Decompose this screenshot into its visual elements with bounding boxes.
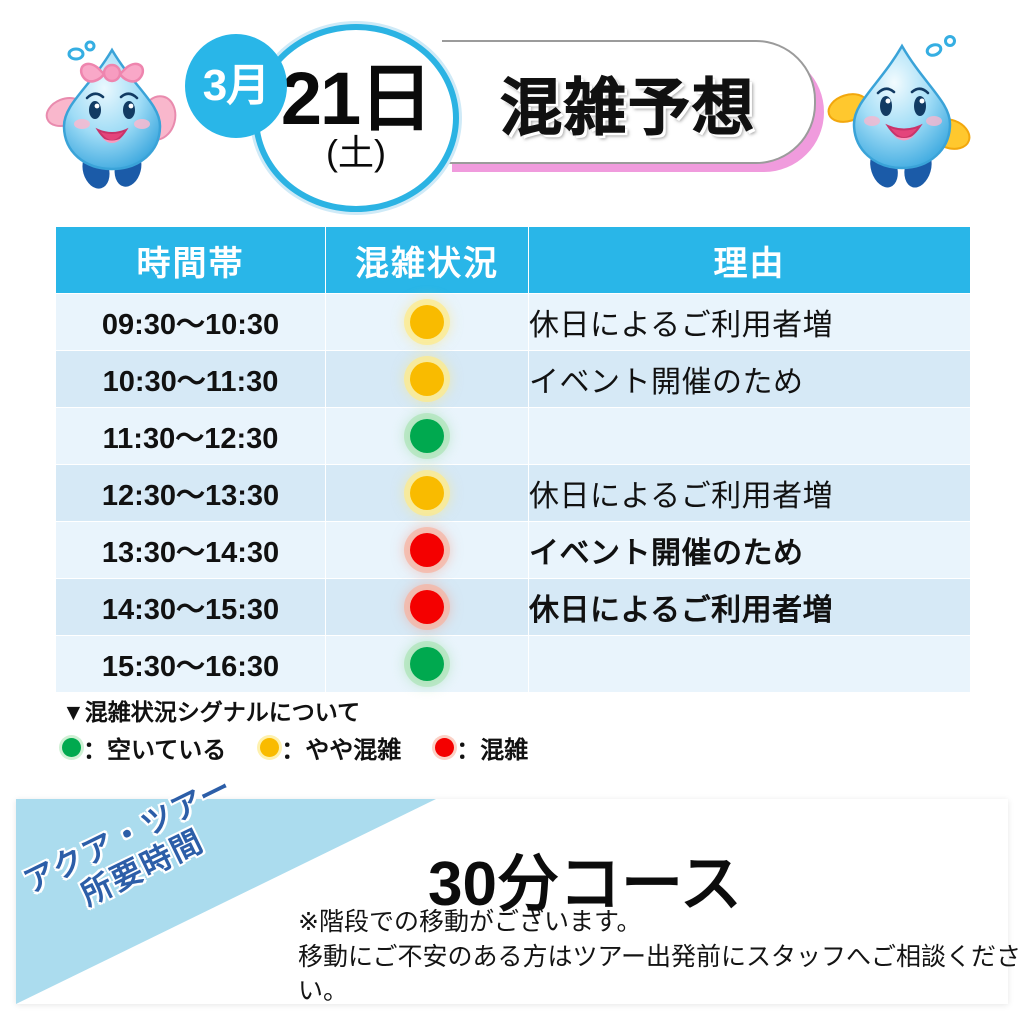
date-day: 21日 <box>281 65 431 133</box>
column-header-signal: 混雑状況 <box>326 227 529 294</box>
header: 混雑予想 21日 (土) 3月 <box>0 0 1024 212</box>
month-badge: 3月 <box>185 34 287 138</box>
cell-reason: イベント開催のため <box>529 522 971 579</box>
signal-yellow-icon <box>410 362 444 396</box>
legend-item: ：混雑 <box>435 730 528 765</box>
legend-signal-red-icon <box>435 738 454 757</box>
cell-reason <box>529 636 971 693</box>
signal-yellow-icon <box>410 476 444 510</box>
legend-item-label: ：やや混雑 <box>281 730 401 765</box>
cell-time: 14:30～15:30 <box>56 579 326 636</box>
signal-green-icon <box>410 647 444 681</box>
cell-time: 12:30～13:30 <box>56 465 326 522</box>
cell-time: 10:30～11:30 <box>56 351 326 408</box>
cell-time: 11:30～12:30 <box>56 408 326 465</box>
cell-signal <box>326 408 529 465</box>
legend-signal-green-icon <box>62 738 81 757</box>
cell-signal <box>326 636 529 693</box>
table-row: 11:30～12:30 <box>56 408 971 465</box>
table-row: 13:30～14:30イベント開催のため <box>56 522 971 579</box>
signal-green-icon <box>410 419 444 453</box>
date-circle: 21日 (土) <box>253 24 459 212</box>
cell-reason: イベント開催のため <box>529 351 971 408</box>
table-row: 12:30～13:30休日によるご利用者増 <box>56 465 971 522</box>
table-row: 09:30～10:30休日によるご利用者増 <box>56 294 971 351</box>
legend-title: ▼混雑状況シグナルについて <box>62 700 702 725</box>
legend-item: ：やや混雑 <box>260 730 401 765</box>
cell-reason: 休日によるご利用者増 <box>529 465 971 522</box>
cell-time: 15:30～16:30 <box>56 636 326 693</box>
table-row: 14:30～15:30休日によるご利用者増 <box>56 579 971 636</box>
signal-yellow-icon <box>410 305 444 339</box>
course-note-line2: 移動にご不安のある方はツアー出発前にスタッフへご相談ください。 <box>298 940 1024 1009</box>
cell-signal <box>326 294 529 351</box>
cell-reason: 休日によるご利用者増 <box>529 579 971 636</box>
congestion-table-wrapper: 時間帯 混雑状況 理由 09:30～10:30休日によるご利用者増10:30～1… <box>55 226 970 693</box>
cell-signal <box>326 579 529 636</box>
water-drop-girl-mascot <box>38 32 188 192</box>
signal-red-icon <box>410 533 444 567</box>
water-drop-boy-mascot <box>822 26 982 196</box>
cell-signal <box>326 465 529 522</box>
legend-item-label: ：空いている <box>83 730 226 765</box>
legend-signal-yellow-icon <box>260 738 279 757</box>
table-body: 09:30～10:30休日によるご利用者増10:30～11:30イベント開催のた… <box>56 294 971 693</box>
table-header-row: 時間帯 混雑状況 理由 <box>56 227 971 294</box>
legend-item: ：空いている <box>62 730 226 765</box>
signal-red-icon <box>410 590 444 624</box>
table-row: 10:30～11:30イベント開催のため <box>56 351 971 408</box>
cell-time: 13:30～14:30 <box>56 522 326 579</box>
table-header: 時間帯 混雑状況 理由 <box>56 227 971 294</box>
course-notes: ※階段での移動がございます。 移動にご不安のある方はツアー出発前にスタッフへご相… <box>298 905 1024 1009</box>
table-row: 15:30～16:30 <box>56 636 971 693</box>
legend: ▼混雑状況シグナルについて ：空いている：やや混雑：混雑 <box>62 700 702 765</box>
cell-signal <box>326 351 529 408</box>
legend-item-label: ：混雑 <box>456 730 528 765</box>
month-badge-label: 3月 <box>203 64 269 108</box>
cell-reason: 休日によるご利用者増 <box>529 294 971 351</box>
congestion-table: 時間帯 混雑状況 理由 09:30～10:30休日によるご利用者増10:30～1… <box>55 226 971 693</box>
cell-reason <box>529 408 971 465</box>
column-header-reason: 理由 <box>529 227 971 294</box>
cell-signal <box>326 522 529 579</box>
column-header-time: 時間帯 <box>56 227 326 294</box>
page-title: 混雑予想 <box>500 57 756 147</box>
title-banner: 混雑予想 <box>442 40 816 164</box>
course-note-line1: ※階段での移動がございます。 <box>298 905 1024 940</box>
cell-time: 09:30～10:30 <box>56 294 326 351</box>
date-weekday: (土) <box>326 135 386 171</box>
legend-items: ：空いている：やや混雑：混雑 <box>62 730 702 765</box>
